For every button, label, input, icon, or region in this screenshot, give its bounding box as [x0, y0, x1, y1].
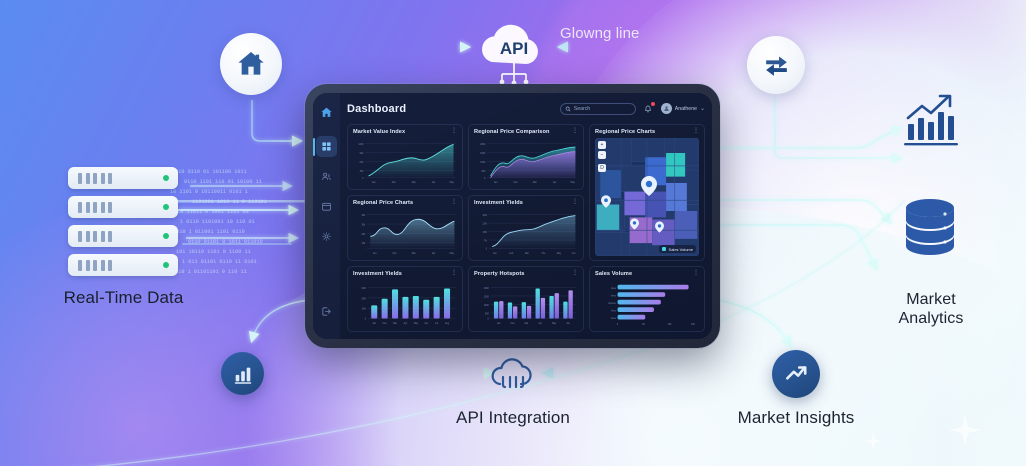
chart-investment-yields-bars: 30%20% 10%0 JanFebMar AprMayJun JulAug	[353, 280, 457, 327]
card-regional-price-charts[interactable]: Regional Price Charts Regional Price Cha…	[347, 195, 463, 261]
server-status-dot	[163, 262, 169, 268]
chart-investment-yields-line: 30%22% 15%7%0 JanFebMar ThuMayJun	[474, 209, 578, 256]
avatar	[661, 103, 672, 114]
user-menu[interactable]: Anathene ⌄	[661, 103, 705, 114]
svg-text:Mar: Mar	[412, 181, 416, 184]
svg-text:010 11011 0 1001 1101 00: 010 11011 0 1001 1101 00	[174, 209, 249, 215]
map-pin-icon[interactable]	[641, 176, 657, 196]
market-analytics-line2: Analytics	[872, 309, 990, 328]
svg-text:Feb: Feb	[392, 182, 397, 184]
svg-text:1500: 1500	[480, 153, 486, 155]
map-pin-icon[interactable]	[630, 218, 639, 230]
svg-text:40k: 40k	[362, 215, 366, 217]
dashboard-grid: Market Value Index ⋮	[347, 124, 705, 332]
svg-text:30%: 30%	[361, 288, 366, 290]
svg-text:Apr: Apr	[539, 322, 543, 325]
server-status-dot	[163, 204, 169, 210]
database-icon	[898, 196, 962, 258]
map-zoom-in-button[interactable]: +	[598, 141, 606, 149]
svg-text:900: 900	[360, 153, 364, 155]
svg-text:May: May	[450, 182, 455, 184]
svg-text:Jun: Jun	[424, 323, 428, 325]
svg-text:1010 0110 01 101100 1011: 1010 0110 01 101100 1011	[172, 169, 247, 175]
svg-text:May: May	[414, 323, 419, 325]
card-title: Property Hotspots	[474, 271, 525, 278]
svg-text:0110 1101 110 01 10100 11: 0110 1101 110 01 10100 11	[184, 179, 262, 185]
growth-chart-icon	[900, 92, 960, 150]
svg-text:Apr: Apr	[404, 322, 408, 325]
legend-label: Sales Volume	[669, 247, 693, 252]
card-investment-yields-bars[interactable]: Investment Yields ⋮	[347, 266, 463, 332]
card-header: Investment Yields ⋮	[353, 271, 457, 278]
svg-text:1000: 1000	[480, 162, 486, 164]
exchange-arrows-icon	[761, 50, 792, 81]
server-status-dot	[163, 175, 169, 181]
svg-text:11010 1 011001 1101 0110: 11010 1 011001 1101 0110	[170, 229, 245, 235]
market-insights-node[interactable]	[772, 350, 820, 398]
home-icon	[235, 48, 267, 80]
svg-text:Jan: Jan	[372, 323, 376, 325]
svg-text:0: 0	[362, 178, 364, 180]
svg-text:10 1101 0 10110011 0101 1: 10 1101 0 10110011 0101 1	[170, 189, 248, 195]
card-menu-button[interactable]: ⋮	[451, 200, 457, 205]
card-title: Regional Price Comparison	[474, 129, 550, 136]
svg-text:Area: Area	[611, 309, 616, 312]
market-analytics-label: Market Analytics	[872, 290, 990, 328]
glowing-line-label: Glowng line	[560, 24, 700, 43]
gear-icon	[321, 231, 332, 242]
svg-text:Jun: Jun	[572, 253, 576, 255]
svg-text:Area: Area	[611, 317, 616, 320]
svg-text:2000: 2000	[484, 288, 490, 290]
svg-text:Apr: Apr	[432, 181, 436, 184]
dashboard-topbar: Dashboard Search	[347, 99, 705, 118]
svg-text:Jan: Jan	[494, 182, 498, 184]
infographic-scene: 1010 0110 01 101100 1011 0110 1101 110 0…	[0, 0, 1026, 466]
svg-text:Mar: Mar	[524, 323, 528, 325]
chart-property-hotspots-bars: 20001500 10005000 JanFebMar AprMayJun	[474, 280, 578, 327]
svg-text:May: May	[557, 253, 562, 255]
card-header: Regional Price Charts Regional Price Cha…	[353, 200, 457, 207]
card-header: Regional Price Comparison ⋮	[474, 129, 578, 136]
map-container[interactable]: + − D	[595, 138, 699, 256]
bar-chart-node[interactable]	[221, 352, 264, 395]
card-menu-button[interactable]: ⋮	[572, 200, 578, 205]
card-menu-button[interactable]: ⋮	[572, 271, 578, 276]
card-property-hotspots-bars[interactable]: Property Hotspots ⋮	[468, 266, 584, 332]
svg-text:0110 1 01101101 0 110 11: 0110 1 01101101 0 110 11	[172, 269, 247, 275]
card-header: Regional Price Charts ⋮	[595, 129, 699, 136]
dashboard-content: Dashboard Search	[340, 93, 712, 339]
svg-text:Mar: Mar	[412, 253, 416, 255]
svg-text:Jan: Jan	[497, 323, 501, 325]
chart-regional-price-charts: 40k30k 20k10k JanFebMar AprMay	[353, 209, 457, 256]
server-status-dot	[163, 233, 169, 239]
svg-text:1 011 01101 0110 11 0101: 1 011 01101 0110 11 0101	[182, 259, 257, 265]
card-menu-button[interactable]: ⋮	[572, 129, 578, 134]
svg-text:600: 600	[360, 162, 364, 164]
exchange-node[interactable]	[747, 36, 805, 94]
market-insights-label: Market Insights	[720, 408, 872, 427]
search-icon	[565, 106, 571, 112]
svg-text:50: 50	[642, 324, 645, 326]
map-zoom-out-button[interactable]: −	[598, 151, 606, 159]
card-market-value-index[interactable]: Market Value Index ⋮	[347, 124, 463, 190]
svg-text:500: 500	[485, 313, 489, 315]
card-title: Investment Yields	[353, 271, 402, 278]
market-analytics-line1: Market	[872, 290, 990, 309]
svg-text:0110 01101 0 1011 011010: 0110 01101 0 1011 011010	[188, 239, 263, 245]
server-stack	[68, 167, 180, 277]
svg-text:1200: 1200	[358, 144, 364, 146]
svg-text:2000: 2000	[480, 144, 486, 146]
sidebar-item-settings[interactable]	[316, 226, 337, 247]
card-investment-yields-line[interactable]: Investment Yields ⋮	[468, 195, 584, 261]
svg-text:1101001 1010 11 0 110101: 1101001 1010 11 0 110101	[192, 199, 267, 205]
growth-chart-node	[900, 92, 960, 150]
search-input[interactable]: Search	[560, 103, 636, 115]
svg-text:0: 0	[487, 318, 489, 320]
svg-text:Aug: Aug	[445, 322, 450, 325]
card-sales-volume[interactable]: Sales Volume ⋮	[589, 266, 705, 332]
topbar-right: Search	[560, 103, 705, 115]
legend-swatch	[662, 247, 666, 251]
svg-text:0: 0	[486, 248, 488, 250]
svg-text:Feb: Feb	[514, 182, 519, 184]
sidebar-item-dashboard[interactable]	[316, 136, 337, 157]
svg-text:150: 150	[691, 324, 695, 326]
server-unit	[68, 167, 178, 189]
api-cloud-text: API	[500, 39, 528, 58]
map-pin-icon[interactable]	[655, 221, 664, 233]
api-integration-label: API Integration	[443, 408, 583, 427]
svg-text:Mar: Mar	[525, 253, 529, 255]
card-header: Property Hotspots ⋮	[474, 271, 578, 278]
svg-text:Jan: Jan	[373, 253, 377, 255]
svg-text:May: May	[571, 182, 576, 184]
svg-text:0: 0	[484, 178, 486, 180]
home-icon	[320, 106, 333, 119]
svg-text:20%: 20%	[361, 298, 366, 300]
server-unit	[68, 196, 178, 218]
svg-text:30%: 30%	[482, 215, 487, 217]
svg-text:Jan: Jan	[372, 182, 376, 184]
svg-text:10%: 10%	[361, 309, 366, 311]
sidebar-item-logout[interactable]	[316, 301, 337, 322]
svg-text:Avenue: Avenue	[608, 302, 616, 305]
real-time-data-label: Real-Time Data	[46, 288, 201, 307]
api-cloud-node[interactable]: API	[470, 14, 558, 94]
card-header: Market Value Index ⋮	[353, 129, 457, 136]
trending-up-icon	[783, 361, 809, 387]
home-node[interactable]	[220, 33, 282, 95]
svg-text:0: 0	[617, 324, 619, 326]
notifications-button[interactable]	[643, 103, 654, 114]
search-placeholder: Search	[574, 106, 590, 112]
svg-text:20k: 20k	[362, 234, 366, 236]
sidebar-item-home[interactable]	[316, 102, 337, 123]
sidebar-item-users[interactable]	[316, 166, 337, 187]
map[interactable]: + − D	[595, 138, 699, 256]
card-menu-button[interactable]: ⋮	[693, 129, 699, 134]
card-title: Regional Price Charts	[353, 200, 413, 207]
chart-sales-volume: AreaArea AvenueAreaArea 050100150	[595, 280, 699, 327]
svg-text:Apr: Apr	[553, 181, 557, 184]
svg-text:0110 1 101 1100 1101 011: 0110 1 101 1100 1101 011	[714, 194, 786, 200]
cloud-api-icon	[487, 357, 539, 401]
card-header: Sales Volume ⋮	[595, 271, 699, 278]
page-title: Dashboard	[347, 103, 406, 115]
svg-text:Apr: Apr	[432, 252, 436, 255]
svg-text:15%: 15%	[482, 232, 487, 234]
dashboard-sidebar	[313, 93, 340, 339]
sidebar-item-calendar[interactable]	[316, 196, 337, 217]
svg-text:7%: 7%	[484, 240, 487, 242]
svg-text:Mar: Mar	[533, 181, 537, 184]
logout-icon	[321, 306, 332, 317]
server-unit	[68, 225, 178, 247]
calendar-icon	[321, 201, 332, 212]
map-legend: Sales Volume	[659, 245, 696, 253]
grid-icon	[321, 141, 332, 152]
svg-text:10k: 10k	[362, 243, 366, 245]
svg-text:0: 0	[365, 318, 367, 320]
card-regional-price-comparison[interactable]: Regional Price Comparison ⋮	[468, 124, 584, 190]
chart-regional-price-comparison: 20001500 10005000 JanFebMar AprMay	[474, 138, 578, 185]
tablet-device: Dashboard Search	[305, 84, 720, 348]
svg-text:Feb: Feb	[393, 253, 398, 255]
chevron-down-icon: ⌄	[700, 106, 705, 112]
map-layers-button[interactable]: D	[598, 164, 606, 172]
card-title: Regional Price Charts	[595, 129, 655, 136]
chart-market-value-index: 1200900 6003000 JanFebMar AprMay	[353, 138, 457, 185]
server-unit	[68, 254, 178, 276]
svg-text:30k: 30k	[362, 224, 366, 226]
svg-text:May: May	[552, 323, 557, 325]
svg-text:Area: Area	[611, 294, 616, 297]
card-property-hotspots-map[interactable]: Regional Price Charts ⋮	[589, 124, 705, 261]
dashboard-screen: Dashboard Search	[313, 93, 712, 339]
svg-text:Thu: Thu	[541, 253, 546, 255]
svg-text:Feb: Feb	[383, 323, 388, 325]
user-name: Anathene	[675, 106, 697, 112]
svg-text:May: May	[450, 253, 455, 255]
map-zoom-controls[interactable]: + − D	[598, 141, 606, 172]
svg-text:100: 100	[668, 324, 672, 326]
notification-badge	[651, 102, 655, 106]
api-integration-node	[487, 357, 539, 401]
binary-data-stream-right: 1101 0110 0110 1011 0 11 0110 1 101 1100…	[700, 180, 900, 275]
svg-text:1 0110 11 0101 1011 0110: 1 0110 11 0101 1011 0110	[710, 254, 782, 260]
card-menu-button[interactable]: ⋮	[693, 271, 699, 276]
svg-text:500: 500	[482, 171, 486, 173]
card-title: Market Value Index	[353, 129, 405, 136]
card-header: Investment Yields ⋮	[474, 200, 578, 207]
svg-text:Jul: Jul	[435, 323, 438, 325]
database-node	[898, 196, 962, 258]
svg-text:Feb: Feb	[511, 323, 516, 325]
bar-chart-icon	[232, 363, 254, 385]
svg-text:1 1010 01101 011 0 11010: 1 1010 01101 011 0 11010	[720, 214, 792, 220]
svg-text:1 0110 1101001 10 110 01: 1 0110 1101001 10 110 01	[180, 219, 255, 225]
card-menu-button[interactable]: ⋮	[451, 271, 457, 276]
card-title: Investment Yields	[474, 200, 523, 207]
svg-text:Jun: Jun	[566, 323, 570, 325]
svg-text:22%: 22%	[482, 223, 487, 225]
users-icon	[321, 171, 332, 182]
svg-text:Mar: Mar	[393, 323, 397, 325]
svg-text:1500: 1500	[484, 296, 490, 298]
card-menu-button[interactable]: ⋮	[451, 129, 457, 134]
svg-text:101 10110 1101 0 1100 11: 101 10110 1101 0 1100 11	[176, 249, 251, 255]
svg-text:Jan: Jan	[493, 253, 497, 255]
user-icon	[663, 105, 670, 112]
svg-text:Feb: Feb	[509, 253, 514, 255]
svg-text:300: 300	[360, 171, 364, 173]
card-title: Sales Volume	[595, 271, 632, 278]
svg-text:11 0101 101 1 0110 11010: 11 0101 101 1 0110 11010	[716, 234, 788, 240]
svg-text:Area: Area	[611, 287, 616, 290]
map-pin-icon[interactable]	[601, 195, 611, 208]
svg-text:1000: 1000	[484, 305, 490, 307]
